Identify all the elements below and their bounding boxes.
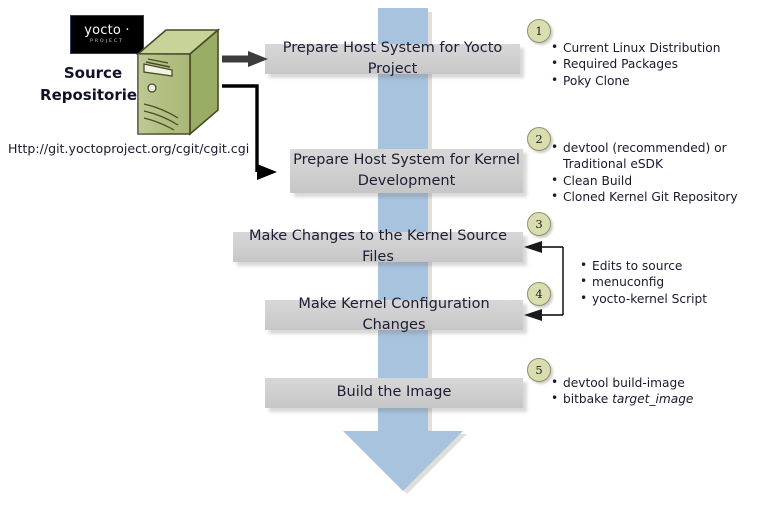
list-item: Cloned Kernel Git Repository xyxy=(551,189,766,205)
step-number-2: 2 xyxy=(527,127,551,151)
list-item: bitbake target_image xyxy=(551,391,766,407)
flow-arrow-head-icon xyxy=(343,431,463,491)
step-number-5: 5 xyxy=(527,358,551,382)
process-box-step-4-label: Make Kernel Configuration Changes xyxy=(265,294,523,336)
process-box-step-5[interactable]: Build the Image xyxy=(265,378,523,408)
list-item: menuconfig xyxy=(580,274,765,290)
step-number-1-value: 1 xyxy=(535,24,542,38)
list-item-text: bitbake target_image xyxy=(563,392,693,406)
step-number-4-value: 4 xyxy=(535,287,542,301)
step-3-4-shared-bullets: Edits to source menuconfig yocto-kernel … xyxy=(580,258,765,307)
list-item: Current Linux Distribution xyxy=(551,40,766,56)
list-item: Clean Build xyxy=(551,173,766,189)
process-box-step-2-label: Prepare Host System for Kernel Developme… xyxy=(293,150,520,192)
process-box-step-3-label: Make Changes to the Kernel Source Files xyxy=(233,226,523,268)
process-box-step-4[interactable]: Make Kernel Configuration Changes xyxy=(265,300,523,330)
source-repository-url: Http://git.yoctoproject.org/cgit/cgit.cg… xyxy=(8,141,249,156)
step-number-2-value: 2 xyxy=(535,132,542,146)
list-item: devtool build-image xyxy=(551,375,766,391)
step-5-bullets: devtool build-image bitbake target_image xyxy=(551,375,766,408)
step-number-3: 3 xyxy=(527,212,551,236)
step-number-3-value: 3 xyxy=(535,217,542,231)
step-number-1: 1 xyxy=(527,19,551,43)
process-box-step-1-label: Prepare Host System for Yocto Project xyxy=(265,38,520,80)
list-item: Required Packages xyxy=(551,56,766,72)
process-box-step-2[interactable]: Prepare Host System for Kernel Developme… xyxy=(290,149,523,193)
diagram-canvas: yocto · PROJECT Source Repositories Http… xyxy=(0,0,769,517)
step-number-4: 4 xyxy=(527,282,551,306)
list-item: devtool (recommended) or Traditional eSD… xyxy=(551,140,766,173)
step-number-5-value: 5 xyxy=(535,363,542,377)
logo-wordmark: yocto · xyxy=(84,24,130,37)
step-1-bullets: Current Linux Distribution Required Pack… xyxy=(551,40,766,89)
server-icon xyxy=(132,26,224,138)
process-box-step-1[interactable]: Prepare Host System for Yocto Project xyxy=(265,44,520,74)
list-item: Edits to source xyxy=(580,258,765,274)
list-item: yocto-kernel Script xyxy=(580,291,765,307)
process-box-step-5-label: Build the Image xyxy=(337,382,452,403)
step-2-bullets: devtool (recommended) or Traditional eSD… xyxy=(551,140,766,206)
logo-subtext: PROJECT xyxy=(90,38,124,46)
list-item: Poky Clone xyxy=(551,73,766,89)
process-box-step-3[interactable]: Make Changes to the Kernel Source Files xyxy=(233,232,523,262)
